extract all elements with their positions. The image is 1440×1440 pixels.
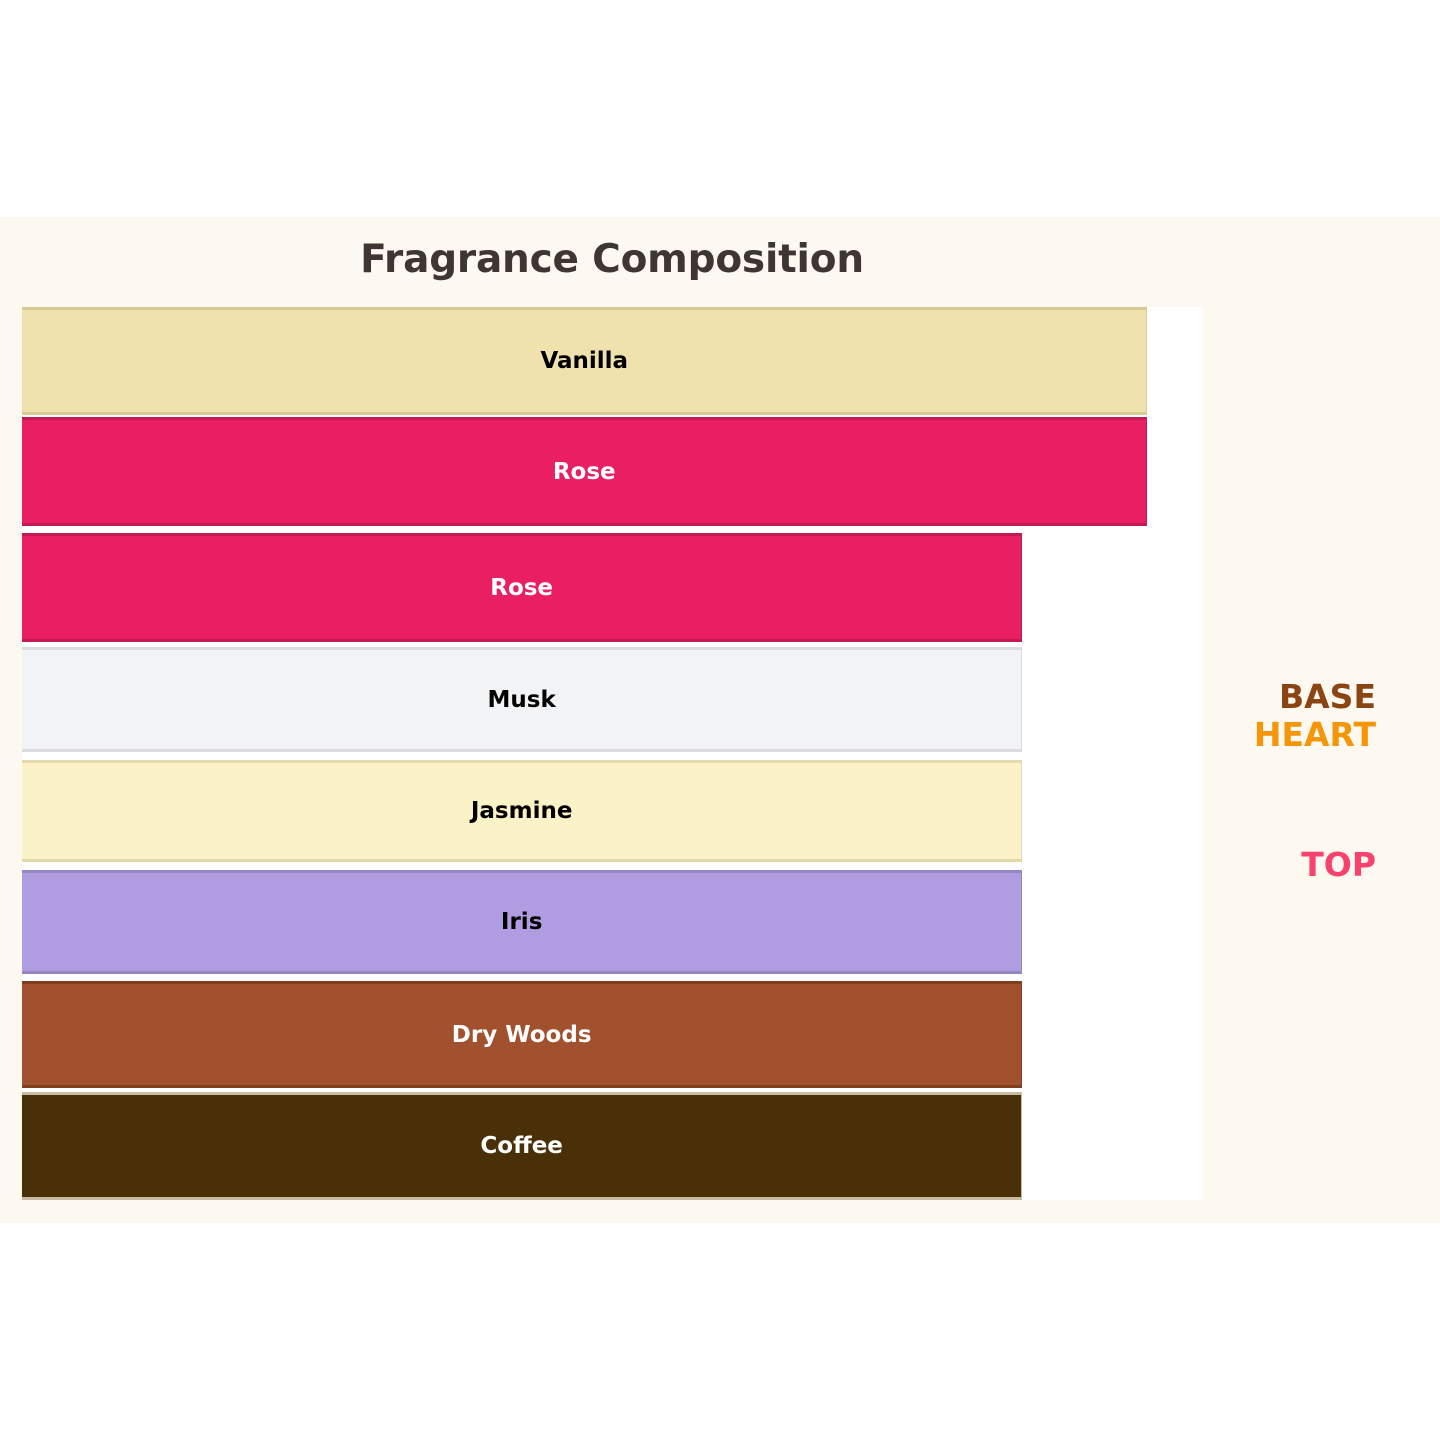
bar-label: Jasmine (471, 798, 573, 824)
stage-legend: BASEHEARTTOP (1203, 217, 1440, 1223)
bar-musk[interactable]: Musk (22, 647, 1022, 752)
legend-item-heart[interactable]: HEART (1254, 715, 1376, 754)
bar-label: Dry Woods (452, 1022, 592, 1048)
plot-area: VanillaRoseRoseMuskJasmineIrisDry WoodsC… (22, 307, 1203, 1200)
bar-label: Rose (490, 575, 553, 601)
figure-panel: Fragrance Composition VanillaRoseRoseMus… (0, 217, 1440, 1223)
bar-dry-woods[interactable]: Dry Woods (22, 981, 1022, 1088)
legend-item-base[interactable]: BASE (1279, 677, 1376, 716)
bar-label: Rose (553, 459, 616, 485)
page-title: Fragrance Composition (0, 237, 1224, 282)
bar-vanilla[interactable]: Vanilla (22, 307, 1147, 415)
bar-iris[interactable]: Iris (22, 870, 1022, 974)
bar-coffee[interactable]: Coffee (22, 1092, 1022, 1200)
bar-label: Musk (488, 687, 556, 713)
bar-jasmine[interactable]: Jasmine (22, 760, 1022, 862)
legend-item-top[interactable]: TOP (1301, 845, 1376, 884)
bar-rose[interactable]: Rose (22, 533, 1022, 642)
bar-label: Coffee (480, 1133, 563, 1159)
bar-label: Iris (501, 909, 542, 935)
bar-rose[interactable]: Rose (22, 417, 1147, 526)
bar-label: Vanilla (540, 348, 628, 374)
